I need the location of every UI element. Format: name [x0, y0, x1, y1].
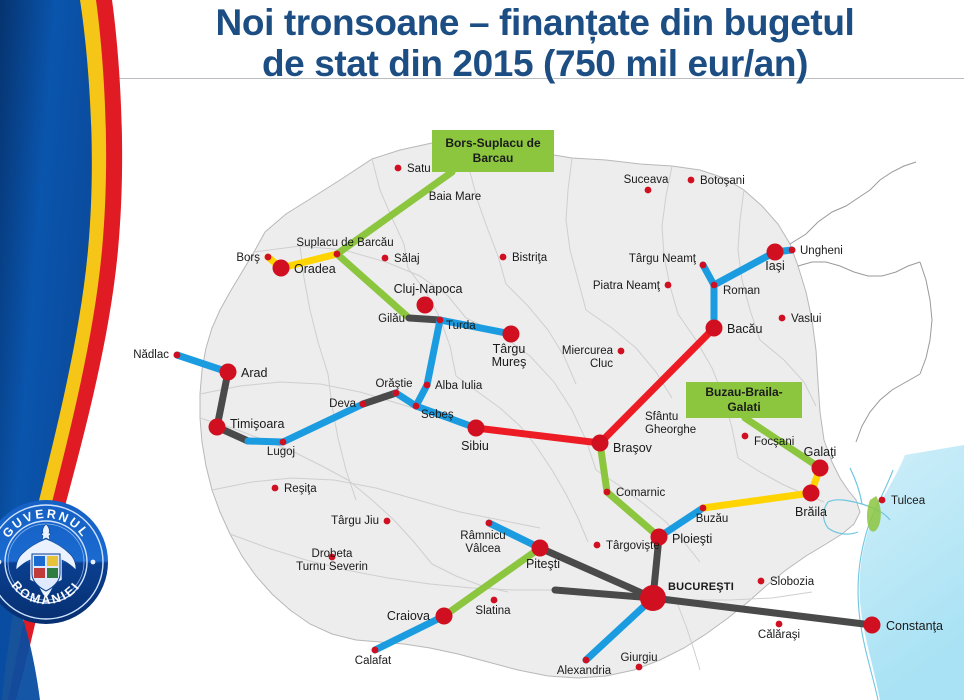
city-label: Botoşani: [700, 175, 745, 187]
city-label: Târgu Neamţ: [629, 253, 697, 265]
city-label: Arad: [241, 366, 267, 380]
city-marker[interactable]: Calafat: [355, 647, 392, 667]
city-dot: [395, 165, 402, 172]
city-dot: [209, 419, 226, 436]
city-label: Ploieşti: [672, 532, 712, 546]
city-marker[interactable]: Gilău: [378, 313, 405, 325]
city-dot: [879, 497, 886, 504]
city-marker[interactable]: Nădlac: [133, 349, 180, 361]
callout-bors-suplacu[interactable]: Bors-Suplacu de Barcau: [432, 130, 554, 172]
city-label: TârguMureş: [492, 342, 527, 369]
city-dot: [594, 542, 601, 549]
city-label: Calafat: [355, 655, 392, 667]
city-label: Cluj-Napoca: [394, 282, 463, 296]
city-dot: [334, 251, 341, 258]
city-label: Roman: [723, 285, 760, 297]
title-line-2: de stat din 2015 (750 mil eur/an): [110, 43, 960, 84]
city-label: Sibiu: [461, 439, 489, 453]
city-label: Orăştie: [375, 378, 412, 390]
city-label: Comarnic: [616, 487, 665, 499]
city-label: Alexandria: [557, 665, 612, 677]
city-label: RâmnicuVâlcea: [460, 530, 505, 555]
city-label: Lugoj: [267, 446, 295, 458]
city-dot: [273, 260, 290, 277]
city-dot: [491, 597, 498, 604]
city-label: Vaslui: [791, 313, 821, 325]
city-dot: [265, 254, 272, 261]
city-label: Giurgiu: [620, 652, 657, 664]
city-label: Sebeş: [421, 409, 454, 421]
city-dot: [812, 460, 829, 477]
government-seal: GUVERNUL ROMÂNIEI: [0, 498, 110, 626]
city-dot: [500, 254, 507, 261]
city-label: Constanţa: [886, 619, 943, 633]
city-label: Slatina: [475, 605, 511, 617]
black-sea: [858, 445, 964, 700]
city-dot: [776, 621, 783, 628]
city-marker[interactable]: Ungheni: [789, 245, 843, 257]
city-marker[interactable]: Oradea: [273, 260, 336, 277]
city-dot: [272, 485, 279, 492]
city-dot: [532, 540, 549, 557]
city-label: Gilău: [378, 313, 405, 325]
city-dot: [360, 401, 367, 408]
route-gilau-turda: [409, 318, 440, 320]
city-dot: [636, 664, 643, 671]
city-dot: [767, 244, 784, 261]
city-label: Târgovişte: [606, 540, 660, 552]
city-dot: [864, 617, 881, 634]
city-dot: [618, 348, 625, 355]
city-dot: [688, 177, 695, 184]
city-label: Braşov: [613, 441, 653, 455]
city-dot: [393, 390, 400, 397]
city-dot: [468, 420, 485, 437]
city-marker[interactable]: Bacău: [706, 320, 763, 337]
city-label: Galaţi: [804, 445, 837, 459]
city-dot: [382, 255, 389, 262]
city-label: Ungheni: [800, 245, 843, 257]
city-label: Buzău: [696, 513, 729, 525]
city-label: Suceava: [624, 174, 669, 186]
romania-route-map: Satu MareBaia MareSuceavaBotoşaniBorşOra…: [0, 0, 964, 700]
city-marker[interactable]: Călăraşi: [758, 621, 800, 641]
city-label: Alba Iulia: [435, 380, 483, 392]
city-label: Iaşi: [765, 259, 784, 273]
city-dot: [592, 435, 609, 452]
city-dot: [424, 382, 431, 389]
city-dot: [436, 608, 453, 625]
presentation-slide: Satu MareBaia MareSuceavaBotoşaniBorşOra…: [0, 0, 964, 700]
city-label: Suplacu de Barcău: [296, 237, 393, 249]
city-dot: [280, 439, 287, 446]
city-marker[interactable]: Piatra Neamţ: [593, 280, 672, 292]
city-label: Craiova: [387, 609, 430, 623]
city-label: Nădlac: [133, 349, 169, 361]
city-dot: [706, 320, 723, 337]
city-label: Târgu Jiu: [331, 515, 379, 527]
city-dot: [583, 657, 590, 664]
city-dot: [700, 262, 707, 269]
title-line-1: Noi tronsoane – finanțate din bugetul: [216, 2, 855, 43]
city-label: BUCUREŞTI: [668, 581, 734, 593]
city-label: Turda: [446, 320, 476, 332]
city-dot: [803, 485, 820, 502]
city-dot: [645, 187, 652, 194]
city-marker[interactable]: Ploieşti: [651, 529, 713, 547]
city-label: Baia Mare: [429, 191, 481, 203]
city-dot: [604, 489, 611, 496]
city-label: Piatra Neamţ: [593, 280, 661, 292]
city-marker[interactable]: Arad: [220, 364, 268, 381]
city-dot: [417, 297, 434, 314]
city-dot: [711, 282, 718, 289]
city-marker[interactable]: Iaşi: [765, 244, 784, 274]
city-dot: [486, 520, 493, 527]
city-dot: [174, 352, 181, 359]
city-dot: [372, 647, 379, 654]
city-label: Călăraşi: [758, 629, 800, 641]
city-marker[interactable]: Craiova: [387, 608, 453, 625]
city-dot: [779, 315, 786, 322]
city-label: Tulcea: [891, 495, 926, 507]
city-label: Reşiţa: [284, 483, 317, 495]
city-label: Bistriţa: [512, 252, 548, 264]
city-dot: [503, 326, 520, 343]
city-dot: [220, 364, 237, 381]
city-label: Focşani: [754, 436, 794, 448]
city-marker[interactable]: Constanţa: [864, 617, 944, 634]
page-title: Noi tronsoane – finanțate din bugetul de…: [110, 2, 960, 85]
city-label: Borş: [236, 252, 260, 264]
callout-buzau-braila-galati[interactable]: Buzau-Braila-Galati: [686, 382, 802, 418]
city-label: Timişoara: [230, 417, 284, 431]
city-label: Piteşti: [526, 557, 560, 571]
city-dot: [413, 403, 420, 410]
city-dot: [700, 505, 707, 512]
city-label: Oradea: [294, 262, 336, 276]
city-dot: [384, 518, 391, 525]
city-label: Brăila: [795, 505, 827, 519]
city-dot: [665, 282, 672, 289]
city-dot: [789, 247, 796, 254]
city-marker[interactable]: Baia Mare: [429, 191, 481, 203]
city-dot: [437, 317, 444, 324]
city-dot: [758, 578, 765, 585]
city-label: Bacău: [727, 322, 762, 336]
city-dot: [742, 433, 749, 440]
city-label: Slobozia: [770, 576, 815, 588]
city-label: Sălaj: [394, 253, 420, 265]
city-dot: [640, 585, 666, 611]
city-label: Deva: [329, 398, 356, 410]
